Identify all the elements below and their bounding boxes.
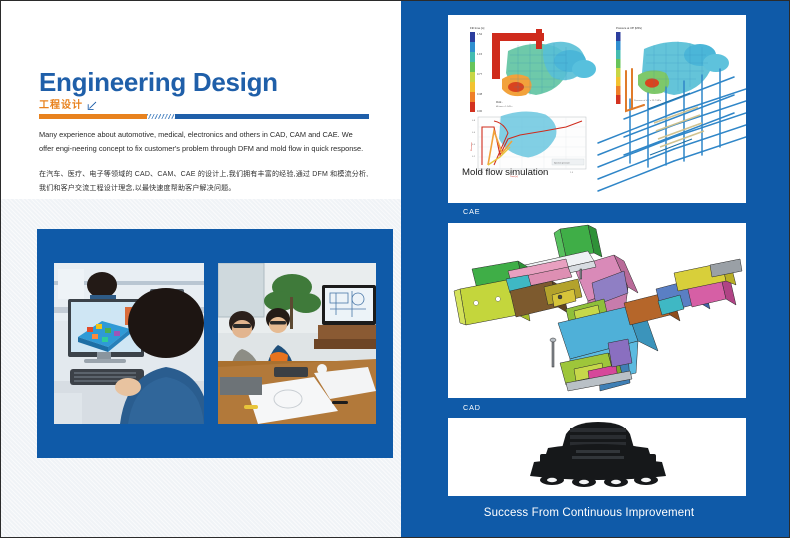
photo-panel <box>37 229 393 458</box>
svg-text:1.54: 1.54 <box>477 32 483 36</box>
svg-text:Fill time [s]: Fill time [s] <box>470 26 485 30</box>
cae-caption: CAE <box>463 207 480 216</box>
subtitle-row: 工程设计 <box>39 101 369 111</box>
mold-flow-label-text: Mold flow simulation <box>462 167 548 178</box>
molded-part-panel <box>448 418 746 496</box>
intro-paragraph-chinese: 在汽车、医疗、电子等领域的 CAD、CAM、CAE 的设计上,我们拥有丰富的经验… <box>39 168 369 196</box>
page-subtitle-chinese: 工程设计 <box>39 101 83 111</box>
svg-text:1.15: 1.15 <box>477 52 483 56</box>
svg-text:Pressure at V/P [MPa]: Pressure at V/P [MPa] <box>616 26 642 30</box>
svg-text:0.77: 0.77 <box>477 72 483 76</box>
rule-orange-segment <box>39 114 147 119</box>
engineering-team-meeting-photo <box>218 263 376 424</box>
title-divider-rule <box>39 114 369 119</box>
rule-hatch-segment <box>147 114 175 119</box>
right-column: Fill time [s] 1.541.15 0.770.38 0.00 <box>401 1 790 538</box>
svg-text:Injection pressure: Injection pressure <box>554 162 571 165</box>
svg-text:0.38: 0.38 <box>477 92 483 96</box>
angle-mark-icon <box>87 101 97 111</box>
tagline-text: Success From Continuous Improvement <box>401 507 790 519</box>
engineer-at-cad-workstation-photo <box>54 263 204 424</box>
cad-panel <box>448 223 746 398</box>
header-text-block: Engineering Design 工程设计 Many experience … <box>39 69 369 196</box>
cad-caption: CAD <box>463 403 481 412</box>
svg-text:Pressure: Pressure <box>470 141 473 151</box>
intro-paragraph-english: Many experience about automotive, medica… <box>39 128 369 157</box>
rule-blue-segment <box>175 114 369 119</box>
svg-text:0.00: 0.00 <box>477 109 483 113</box>
svg-text:fill time = 1.543 s: fill time = 1.543 s <box>496 105 513 108</box>
brochure-page: Engineering Design 工程设计 Many experience … <box>0 0 790 538</box>
svg-text:Mold...: Mold... <box>496 101 504 104</box>
page-title: Engineering Design <box>39 69 369 95</box>
cae-panel: Fill time [s] 1.541.15 0.770.38 0.00 <box>448 15 746 203</box>
